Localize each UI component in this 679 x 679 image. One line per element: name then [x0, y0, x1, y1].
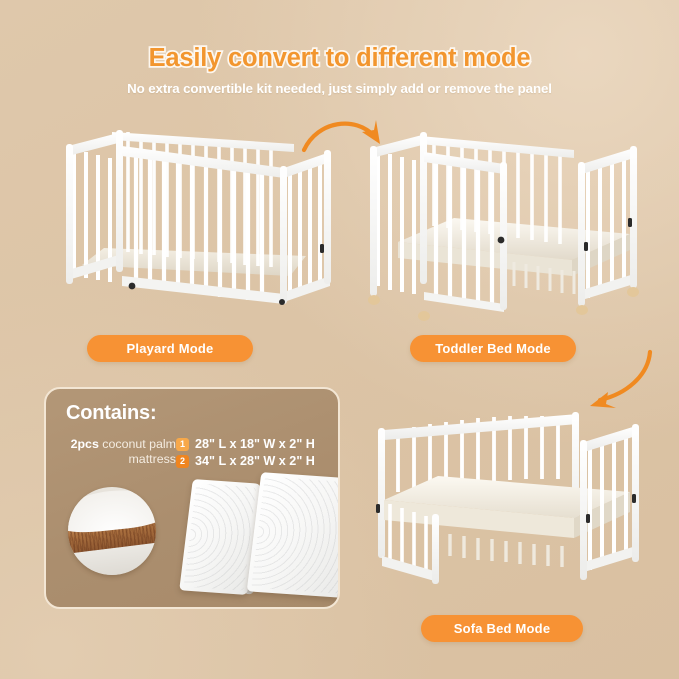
- dimension-row-1: 1 28" L x 18" W x 2" H: [176, 437, 315, 451]
- label-sofa-bed-mode: Sofa Bed Mode: [421, 615, 583, 642]
- sofa-bed-mode-image: [364, 396, 648, 596]
- dimension-row-2: 2 34" L x 28" W x 2" H: [176, 454, 315, 468]
- page-subtitle: No extra convertible kit needed, just si…: [0, 81, 679, 96]
- label-playard-mode: Playard Mode: [87, 335, 253, 362]
- mattress-pad-large-image: [247, 472, 340, 598]
- dimension-text-1: 28" L x 18" W x 2" H: [195, 437, 315, 451]
- contains-panel: Contains: 2pcs coconut palm mattress 1 2…: [44, 387, 340, 609]
- page-title: Easily convert to different mode: [0, 44, 679, 73]
- product-infographic: Easily convert to different mode No extr…: [0, 0, 679, 679]
- coconut-palm-detail-image: [68, 487, 156, 575]
- pad-quilt-pattern: [251, 476, 340, 593]
- dimension-text-2: 34" L x 28" W x 2" H: [195, 454, 315, 468]
- dimension-badge-2: 2: [176, 455, 189, 468]
- mattress-quantity: 2pcs: [71, 437, 99, 451]
- dimension-badge-1: 1: [176, 438, 189, 451]
- mattress-name: coconut palm mattress: [102, 437, 176, 466]
- toddler-bed-mode-image: [362, 130, 648, 322]
- playard-mode-image: [52, 126, 338, 316]
- contains-title: Contains:: [66, 402, 156, 425]
- mattress-description: 2pcs coconut palm mattress: [64, 437, 176, 467]
- label-toddler-bed-mode: Toddler Bed Mode: [410, 335, 576, 362]
- pad-quilt-pattern: [184, 483, 257, 590]
